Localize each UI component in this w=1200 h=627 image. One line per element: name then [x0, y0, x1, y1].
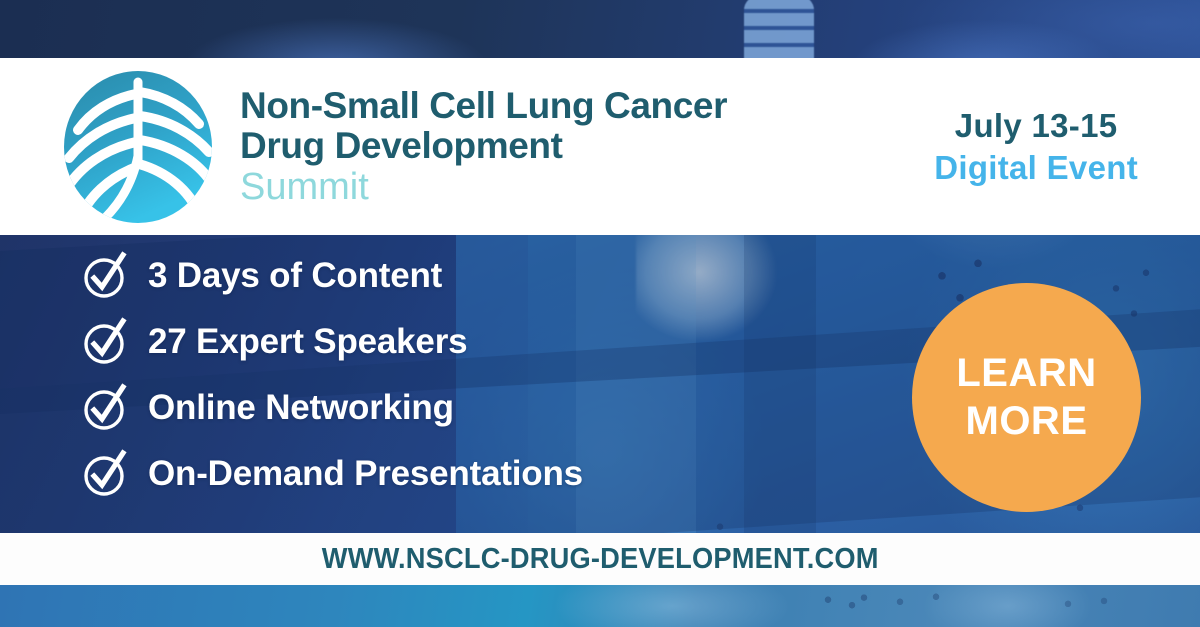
features-list: 3 Days of Content 27 Expert Speakers Onl… — [82, 253, 583, 497]
feature-item: Online Networking — [82, 385, 583, 431]
promo-banner: Non-Small Cell Lung Cancer Drug Developm… — [0, 0, 1200, 627]
feature-item: 3 Days of Content — [82, 253, 583, 299]
check-circle-icon — [82, 253, 128, 299]
trachea-icon — [744, 0, 814, 58]
check-circle-icon — [82, 319, 128, 365]
feature-item: 27 Expert Speakers — [82, 319, 583, 365]
summit-logo[interactable] — [58, 67, 218, 227]
feature-label: 27 Expert Speakers — [148, 322, 467, 362]
check-circle-icon — [82, 385, 128, 431]
title-line-2: Drug Development — [240, 126, 727, 166]
header-bar: Non-Small Cell Lung Cancer Drug Developm… — [0, 58, 1200, 235]
lung-globe-logo-icon — [59, 68, 217, 226]
bottom-strip — [0, 585, 1200, 627]
title-line-1: Non-Small Cell Lung Cancer — [240, 86, 727, 126]
event-format: Digital Event — [934, 147, 1138, 188]
title-line-summit: Summit — [240, 168, 727, 208]
cta-line-2: MORE — [966, 398, 1088, 445]
feature-label: On-Demand Presentations — [148, 454, 583, 494]
top-strip — [0, 0, 1200, 58]
top-strip-lung-silhouette — [0, 0, 1200, 58]
event-dates: July 13-15 — [934, 105, 1138, 146]
cta-line-1: LEARN — [956, 350, 1096, 397]
feature-item: On-Demand Presentations — [82, 451, 583, 497]
bottom-strip-alveoli — [0, 585, 1200, 627]
feature-label: Online Networking — [148, 388, 454, 428]
summit-title-block: Non-Small Cell Lung Cancer Drug Developm… — [240, 86, 727, 208]
check-circle-icon — [82, 451, 128, 497]
event-date-block: July 13-15 Digital Event — [934, 105, 1138, 188]
website-url[interactable]: WWW.NSCLC-DRUG-DEVELOPMENT.COM — [322, 543, 879, 576]
feature-label: 3 Days of Content — [148, 256, 442, 296]
website-url-bar[interactable]: WWW.NSCLC-DRUG-DEVELOPMENT.COM — [0, 533, 1200, 585]
learn-more-button[interactable]: LEARN MORE — [912, 283, 1141, 512]
